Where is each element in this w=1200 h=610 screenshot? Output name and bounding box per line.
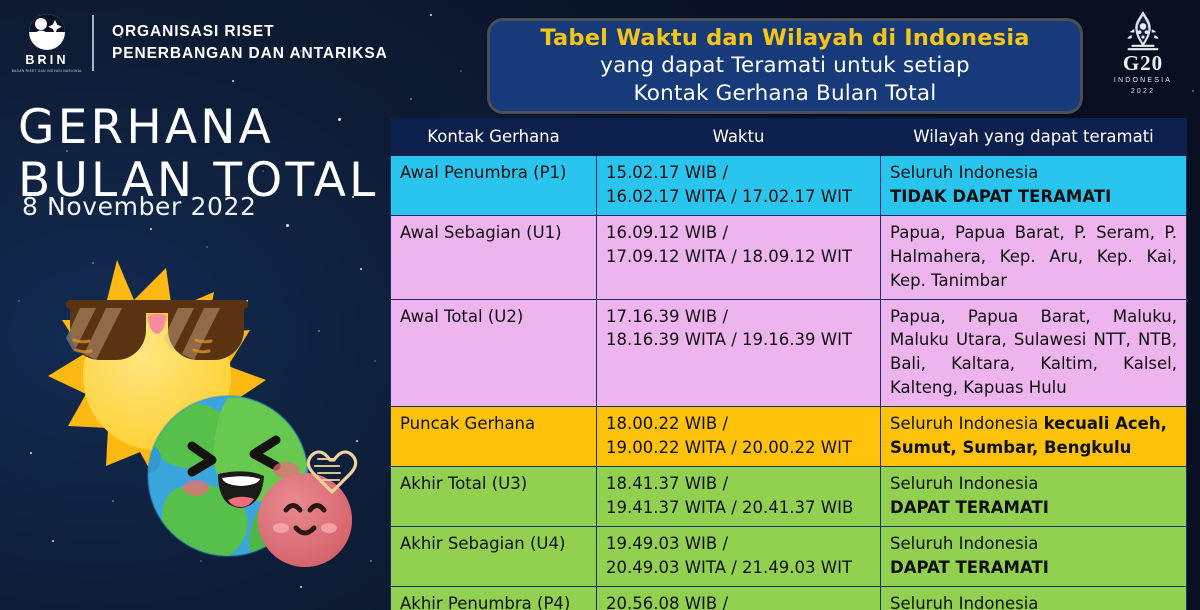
cell-kontak: Akhir Penumbra (P4) — [391, 586, 597, 610]
table-body: Awal Penumbra (P1) 15.02.17 WIB / 16.02.… — [391, 155, 1187, 610]
eclipse-illustration — [0, 248, 390, 610]
cell-wilayah: Papua, Papua Barat, P. Seram, P. Halmahe… — [881, 215, 1187, 299]
wilayah-text: Seluruh Indonesia — [890, 592, 1177, 610]
cell-wilayah: Seluruh Indonesia DAPAT TERAMATI — [881, 467, 1187, 527]
wilayah-text: Seluruh Indonesia — [890, 472, 1177, 496]
waktu-line-1: 17.16.39 WIB / — [606, 305, 871, 329]
cell-waktu: 18.41.37 WIB / 19.41.37 WITA / 20.41.37 … — [597, 467, 881, 527]
banner-line-2: yang dapat Teramati untuk setiap — [600, 52, 970, 80]
table-row: Akhir Total (U3) 18.41.37 WIB / 19.41.37… — [391, 467, 1187, 527]
cell-kontak: Awal Sebagian (U1) — [391, 215, 597, 299]
waktu-line-2: 17.09.12 WITA / 18.09.12 WIT — [606, 245, 871, 269]
cell-waktu: 19.49.03 WIB / 20.49.03 WITA / 21.49.03 … — [597, 526, 881, 586]
col-header-waktu: Waktu — [597, 119, 881, 156]
g20-year: 2022 — [1131, 87, 1155, 96]
banner-line-3: Kontak Gerhana Bulan Total — [634, 80, 937, 108]
table-header-row: Kontak Gerhana Waktu Wilayah yang dapat … — [391, 119, 1187, 156]
brand-divider — [92, 15, 94, 71]
event-date: 8 November 2022 — [22, 192, 256, 221]
cell-kontak: Awal Total (U2) — [391, 299, 597, 407]
cell-waktu: 18.00.22 WIB / 19.00.22 WITA / 20.00.22 … — [597, 407, 881, 467]
g20-country: INDONESIA — [1114, 76, 1172, 87]
waktu-line-1: 18.41.37 WIB / — [606, 472, 871, 496]
cell-kontak: Akhir Total (U3) — [391, 467, 597, 527]
organization-name: ORGANISASI RISET PENERBANGAN DAN ANTARIK… — [112, 21, 388, 65]
cell-kontak: Akhir Sebagian (U4) — [391, 526, 597, 586]
org-line-2: PENERBANGAN DAN ANTARIKSA — [112, 43, 388, 65]
title-line-1: GERHANA — [18, 100, 274, 155]
wilayah-status: DAPAT TERAMATI — [890, 496, 1177, 520]
cell-kontak: Awal Penumbra (P1) — [391, 155, 597, 215]
table-row: Akhir Sebagian (U4) 19.49.03 WIB / 20.49… — [391, 526, 1187, 586]
table-row: Awal Penumbra (P1) 15.02.17 WIB / 16.02.… — [391, 155, 1187, 215]
col-header-wilayah: Wilayah yang dapat teramati — [881, 119, 1187, 156]
waktu-line-2: 18.16.39 WITA / 19.16.39 WIT — [606, 328, 871, 352]
waktu-line-2: 19.00.22 WITA / 20.00.22 WIT — [606, 436, 871, 460]
cell-wilayah: Seluruh Indonesia DAPAT TERAMATI — [881, 586, 1187, 610]
cell-waktu: 20.56.08 WIB / 21.56.08 WITA / 22.56.08 … — [597, 586, 881, 610]
waktu-line-1: 20.56.08 WIB / — [606, 592, 871, 610]
eclipse-contact-table: Kontak Gerhana Waktu Wilayah yang dapat … — [390, 118, 1187, 610]
brand-header: BRIN BADAN RISET DAN INOVASI NASIONAL OR… — [16, 12, 388, 74]
g20-gunungan-icon — [1117, 10, 1169, 52]
col-header-kontak: Kontak Gerhana — [391, 119, 597, 156]
g20-text: G20 — [1123, 53, 1163, 74]
table-title-banner: Tabel Waktu dan Wilayah di Indonesia yan… — [487, 18, 1083, 114]
g20-logo: G20 INDONESIA 2022 — [1104, 10, 1182, 96]
brin-wordmark: BRIN — [25, 54, 68, 67]
wilayah-status: DAPAT TERAMATI — [890, 556, 1177, 580]
waktu-line-2: 20.49.03 WITA / 21.49.03 WIT — [606, 556, 871, 580]
cell-wilayah: Seluruh Indonesia kecuali Aceh, Sumut, S… — [881, 407, 1187, 467]
cell-kontak: Puncak Gerhana — [391, 407, 597, 467]
table-row: Puncak Gerhana 18.00.22 WIB / 19.00.22 W… — [391, 407, 1187, 467]
wilayah-text: Seluruh Indonesia — [890, 532, 1177, 556]
waktu-line-2: 19.41.37 WITA / 20.41.37 WIB — [606, 496, 871, 520]
org-line-1: ORGANISASI RISET — [112, 21, 388, 43]
wilayah-text: Seluruh Indonesia — [890, 161, 1177, 185]
table-row: Akhir Penumbra (P4) 20.56.08 WIB / 21.56… — [391, 586, 1187, 610]
wilayah-status: TIDAK DAPAT TERAMATI — [890, 185, 1177, 209]
poster-canvas: BRIN BADAN RISET DAN INOVASI NASIONAL OR… — [0, 0, 1200, 610]
cell-wilayah: Seluruh Indonesia DAPAT TERAMATI — [881, 526, 1187, 586]
wilayah-text: Seluruh Indonesia — [890, 414, 1044, 433]
waktu-line-1: 19.49.03 WIB / — [606, 532, 871, 556]
waktu-line-1: 15.02.17 WIB / — [606, 161, 871, 185]
cell-waktu: 15.02.17 WIB / 16.02.17 WITA / 17.02.17 … — [597, 155, 881, 215]
brin-subtext: BADAN RISET DAN INOVASI NASIONAL — [12, 69, 83, 74]
cell-waktu: 16.09.12 WIB / 17.09.12 WITA / 18.09.12 … — [597, 215, 881, 299]
cell-wilayah: Papua, Papua Barat, Maluku, Maluku Utara… — [881, 299, 1187, 407]
eclipse-table-container: Kontak Gerhana Waktu Wilayah yang dapat … — [390, 118, 1186, 610]
cell-wilayah: Seluruh Indonesia TIDAK DAPAT TERAMATI — [881, 155, 1187, 215]
table-row: Awal Total (U2) 17.16.39 WIB / 18.16.39 … — [391, 299, 1187, 407]
waktu-line-1: 18.00.22 WIB / — [606, 412, 871, 436]
waktu-line-2: 16.02.17 WITA / 17.02.17 WIT — [606, 185, 871, 209]
waktu-line-1: 16.09.12 WIB / — [606, 221, 871, 245]
cell-waktu: 17.16.39 WIB / 18.16.39 WITA / 19.16.39 … — [597, 299, 881, 407]
brin-logo-icon: BRIN BADAN RISET DAN INOVASI NASIONAL — [16, 12, 78, 74]
banner-line-1: Tabel Waktu dan Wilayah di Indonesia — [540, 24, 1029, 52]
table-row: Awal Sebagian (U1) 16.09.12 WIB / 17.09.… — [391, 215, 1187, 299]
